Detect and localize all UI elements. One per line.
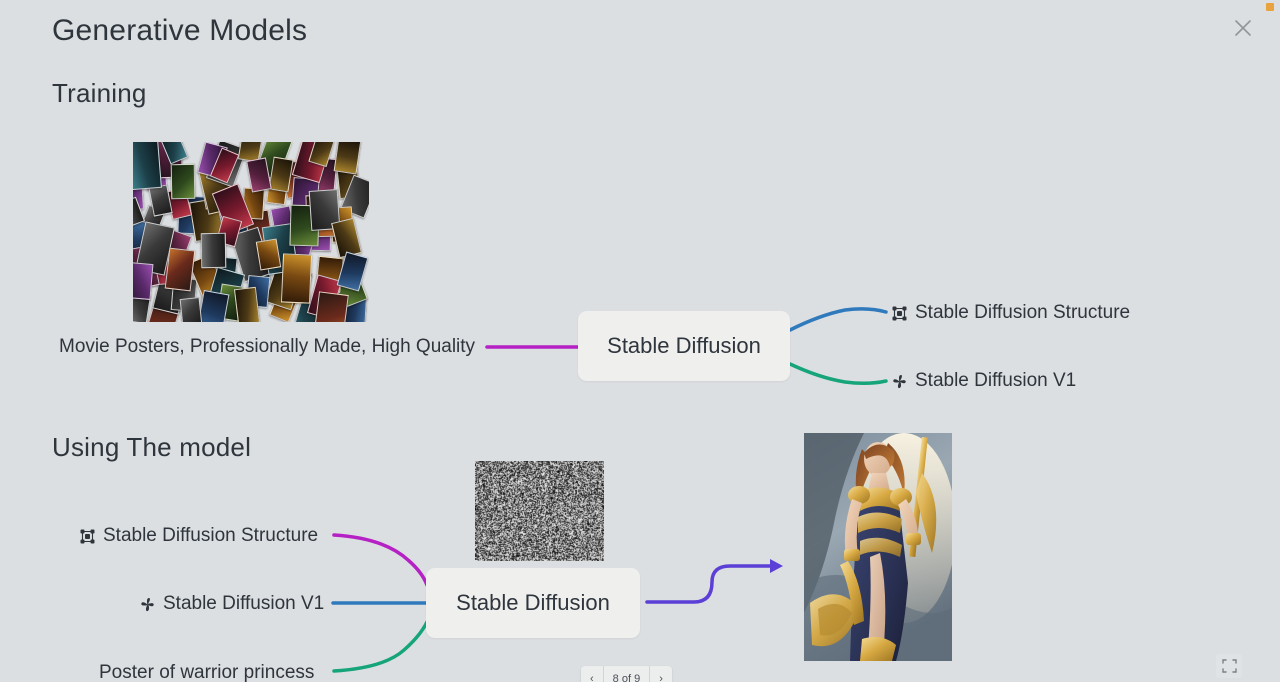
- label-using-input-v1[interactable]: Stable Diffusion V1: [139, 593, 324, 615]
- poster-thumbnail: [333, 142, 361, 175]
- node-label: Stable Diffusion: [456, 590, 610, 616]
- wire-using-prompt: [334, 622, 427, 671]
- poster-thumbnail: [133, 262, 153, 300]
- label-training-source: Movie Posters, Professionally Made, High…: [59, 336, 475, 358]
- wire-using-output: [647, 566, 772, 602]
- label-using-input-structure[interactable]: Stable Diffusion Structure: [79, 525, 318, 547]
- status-indicator-dot: [1266, 3, 1274, 11]
- shuffle-icon: [139, 596, 156, 613]
- pagination-prev-button[interactable]: ‹: [581, 666, 603, 682]
- pagination-count: 8 of 9: [604, 666, 650, 682]
- node-stable-diffusion-using[interactable]: Stable Diffusion: [426, 568, 640, 638]
- wire-training-v1: [790, 364, 886, 383]
- poster-thumbnail: [171, 164, 196, 199]
- shuffle-icon: [891, 373, 908, 390]
- label-text: Stable Diffusion Structure: [915, 302, 1130, 324]
- poster-thumbnail: [149, 185, 173, 217]
- structure-icon: [79, 528, 96, 545]
- structure-icon: [891, 305, 908, 322]
- fullscreen-button[interactable]: [1216, 654, 1242, 678]
- label-text: Stable Diffusion V1: [915, 370, 1076, 392]
- section-heading-training: Training: [52, 78, 147, 109]
- arrowhead-icon: [770, 559, 783, 573]
- label-training-output-structure[interactable]: Stable Diffusion Structure: [891, 302, 1130, 324]
- poster-thumbnail: [133, 142, 161, 190]
- label-text: Stable Diffusion V1: [163, 593, 324, 615]
- pagination-control[interactable]: ‹ 8 of 9 ›: [581, 666, 672, 682]
- label-text: Stable Diffusion Structure: [103, 525, 318, 547]
- poster-thumbnail: [201, 232, 227, 267]
- fullscreen-icon: [1222, 659, 1237, 673]
- node-stable-diffusion-training[interactable]: Stable Diffusion: [578, 311, 790, 381]
- poster-thumbnail: [179, 297, 201, 322]
- wire-training-structure: [790, 309, 886, 330]
- close-button[interactable]: [1228, 13, 1258, 43]
- section-heading-using: Using The model: [52, 432, 251, 463]
- poster-thumbnail: [281, 254, 312, 304]
- poster-thumbnail: [314, 291, 349, 322]
- generated-image: [804, 433, 952, 661]
- wire-using-structure: [334, 535, 427, 585]
- pagination-next-button[interactable]: ›: [650, 666, 672, 682]
- node-label: Stable Diffusion: [607, 333, 761, 359]
- page-title: Generative Models: [52, 14, 307, 48]
- poster-thumbnail: [164, 247, 194, 291]
- close-icon: [1232, 17, 1254, 39]
- poster-thumbnail: [234, 287, 260, 322]
- movie-posters-collage: [133, 142, 369, 322]
- noise-image: [475, 461, 604, 561]
- label-training-output-v1[interactable]: Stable Diffusion V1: [891, 370, 1076, 392]
- label-using-input-prompt: Poster of warrior princess: [99, 662, 314, 682]
